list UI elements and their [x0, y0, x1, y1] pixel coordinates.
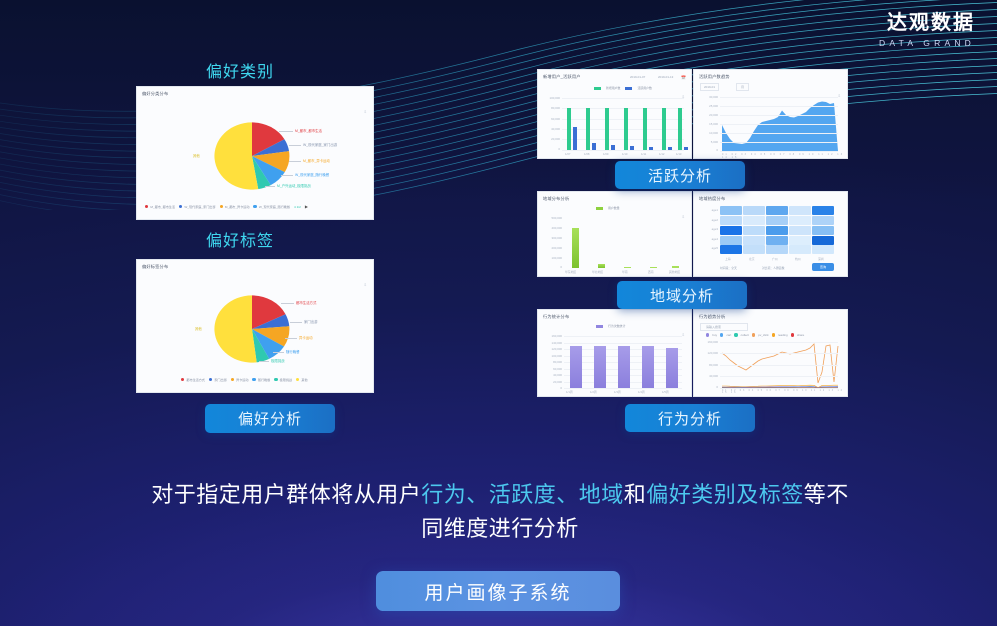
- legend-label: 用户数量: [608, 206, 620, 210]
- brand-name-en: DATA GRAND: [879, 38, 975, 48]
- gridline: [720, 124, 838, 125]
- plot-area: 100,000 80,000 60,000 40,000 20,000 0: [562, 98, 688, 150]
- y-tick: 300,000: [540, 236, 562, 240]
- x-axis-labels: 01 02 03 04 05 06 07 08 09 10 11 12 13 1…: [722, 153, 847, 159]
- legend-label: 家门出游: [214, 377, 226, 382]
- pie-leader-line: [290, 322, 302, 323]
- heatmap-cell[interactable]: [812, 226, 834, 235]
- x-tick: 其他地区: [669, 270, 680, 274]
- bar: [570, 346, 582, 388]
- y-tick: 40,000: [540, 373, 562, 377]
- heatmap-cell[interactable]: [720, 245, 742, 254]
- gridline: [720, 151, 838, 152]
- heatmap-cell[interactable]: [766, 245, 788, 254]
- panel-title: 偏好标签分布: [137, 260, 373, 270]
- legend-label: W_现代家庭_家门出游: [184, 204, 215, 209]
- heatmap-cell[interactable]: [789, 236, 811, 245]
- panel-region-heatmap: 地域热度分布 age1 age2 age3 age4 age5: [693, 191, 848, 277]
- pie-label: 极限挑战: [271, 358, 285, 363]
- panel-behavior-line: 行为趋势分析 请输入搜索 buy cart collect pv_click r…: [693, 309, 848, 397]
- legend-item[interactable]: 都市生活方式: [181, 377, 205, 382]
- bar: [650, 267, 657, 268]
- heatmap-cell[interactable]: [812, 236, 834, 245]
- y-tick: 160,000: [696, 340, 718, 344]
- panel-title: 地域热度分布: [694, 192, 847, 202]
- y-tick: 100,000: [539, 96, 560, 100]
- legend-item[interactable]: 家门出游: [209, 377, 227, 382]
- gridline: [720, 115, 838, 116]
- calendar-icon[interactable]: 📅: [681, 75, 686, 80]
- pie-label: 其他: [195, 326, 202, 331]
- date-range-filter-2[interactable]: 2019-01-13: [658, 75, 673, 79]
- y-tick: 500,000: [540, 216, 562, 220]
- y-tick: 200,000: [540, 246, 562, 250]
- legend-color-dot: [706, 333, 709, 336]
- pie-leader-line: [281, 303, 294, 304]
- legend-label: reading: [778, 333, 788, 337]
- gridline: [720, 106, 838, 107]
- description-paragraph: 对于指定用户群体将从用户行为、活跃度、地域和偏好类别及标签等不同维度进行分析: [150, 478, 850, 546]
- pie-legend[interactable]: M_都市_都市生活 W_现代家庭_家门出游 M_都市_异卡运动 W_现代家庭_随…: [145, 204, 308, 209]
- legend-label: W_现代家庭_随行晚餐: [259, 204, 290, 209]
- heatmap-col-label: 上海: [725, 257, 731, 261]
- period-select[interactable]: 2019-01: [700, 83, 719, 91]
- pie-leader-line: [289, 161, 301, 162]
- y-tick: 120,000: [696, 351, 718, 355]
- gridline: [564, 388, 682, 389]
- pie-leader-line: [285, 338, 297, 339]
- pie-leader-line: [279, 131, 293, 132]
- y-tick: 80,000: [540, 360, 562, 364]
- x-tick: 1/2周: [590, 390, 597, 394]
- brand-name-cn: 达观数据: [879, 12, 975, 35]
- button-region-analysis[interactable]: 地域分析: [617, 281, 747, 309]
- legend-color-dot: [253, 205, 256, 208]
- legend-label: 随行晚餐: [258, 377, 270, 382]
- pie-leader-line: [273, 352, 284, 353]
- gridline: [720, 353, 838, 354]
- bar: [678, 108, 682, 150]
- plot-area: 500,000 400,000 300,000 200,000 100,000 …: [564, 218, 686, 268]
- heatmap-cell[interactable]: [720, 226, 742, 235]
- x-tick: 1/08: [584, 152, 589, 156]
- legend-item[interactable]: M_都市_异卡运动: [220, 204, 250, 209]
- y-tick: 25,000: [696, 104, 718, 108]
- legend-color-dot: [181, 378, 184, 381]
- panel-active-bar: 新增用户_活跃用户 2019-01-07 2019-01-13 📅 新增用户数 …: [537, 69, 692, 159]
- y-tick: 40,000: [696, 374, 718, 378]
- bar: [668, 147, 672, 150]
- para-highlight-2: 偏好类别及标签: [646, 482, 804, 507]
- pie-label: 都市生活方式: [296, 300, 316, 305]
- legend-label: 都市生活方式: [186, 377, 205, 382]
- legend-color-dot: [772, 333, 775, 336]
- legend-color-dot: [145, 205, 148, 208]
- bar: [567, 108, 571, 150]
- legend-color-dot: [296, 378, 299, 381]
- y-tick: 120,000: [540, 347, 562, 351]
- bar: [605, 108, 609, 150]
- heatmap-col-label: 深圳: [818, 257, 824, 261]
- x-tick: 1/4周: [638, 390, 645, 394]
- brand-logo: 达观数据 DATA GRAND: [879, 12, 975, 48]
- panel-behavior-bar: 行为统计分布 行为次数统计 ⇩ 160,000 140,000 120,000 …: [537, 309, 692, 397]
- bar: [573, 127, 577, 150]
- x-tick: 1/13: [676, 152, 681, 156]
- x-tick: 华北地区: [592, 270, 603, 274]
- heatmap-cell[interactable]: [743, 216, 765, 225]
- x-tick: 西南: [648, 270, 654, 274]
- y-tick: 20,000: [696, 113, 718, 117]
- gridline: [720, 142, 838, 143]
- heatmap-cell[interactable]: [789, 216, 811, 225]
- legend-color-dot: [179, 205, 182, 208]
- caption-pref-tag: 偏好标签: [206, 227, 274, 251]
- legend-item[interactable]: W_现代家庭_家门出游: [179, 204, 216, 209]
- legend-color-dot: [791, 333, 794, 336]
- heatmap-cell[interactable]: [812, 216, 834, 225]
- y-tick: 5,000: [696, 140, 718, 144]
- bar: [624, 267, 631, 268]
- chart-legend[interactable]: 新增用户数 活跃用户数: [594, 86, 652, 90]
- heatmap-col-label: 广州: [772, 257, 778, 261]
- gridline: [562, 98, 684, 99]
- heatmap-row-label: age1: [698, 208, 718, 212]
- legend-item[interactable]: 随行晚餐: [252, 377, 270, 382]
- y-tick: 20,000: [540, 380, 562, 384]
- y-tick: 400,000: [540, 226, 562, 230]
- heatmap-col-label: 北京: [749, 257, 755, 261]
- legend-label: 极限挑战: [280, 377, 292, 382]
- heatmap-cell[interactable]: [766, 226, 788, 235]
- y-tick: 160,000: [540, 334, 562, 338]
- bar: [630, 146, 634, 150]
- chart-legend[interactable]: buy cart collect pv_click reading share: [706, 333, 804, 337]
- button-behavior-analysis[interactable]: 行为分析: [625, 404, 755, 432]
- pie-label: 异卡运动: [299, 335, 313, 340]
- legend-color-chip: [594, 87, 601, 90]
- y-tick: 100,000: [540, 256, 562, 260]
- legend-color-dot: [752, 333, 755, 336]
- heatmap-row-label: age2: [698, 218, 718, 222]
- pie-leader-line: [281, 175, 293, 176]
- chart-legend[interactable]: 行为次数统计: [596, 324, 625, 328]
- legend-color-dot: [274, 378, 277, 381]
- legend-color-chip: [625, 87, 632, 90]
- next-page-icon[interactable]: ▶: [305, 204, 308, 209]
- heatmap-cell[interactable]: [766, 206, 788, 215]
- gridline: [562, 150, 684, 151]
- bar: [572, 228, 579, 268]
- filter-label: 时间段：全天: [720, 266, 737, 270]
- y-tick: 15,000: [696, 122, 718, 126]
- gridline: [720, 365, 838, 366]
- pie-label: M_户外运动_极限挑战: [277, 183, 311, 188]
- metric-select[interactable]: 月: [736, 83, 749, 91]
- panel-region-bar: 地域分布分析 用户数量 ⇩ 500,000 400,000 300,000 20…: [537, 191, 692, 277]
- legend-item[interactable]: 异卡运动: [231, 377, 249, 382]
- legend-pager[interactable]: 4 1/2: [294, 205, 301, 209]
- legend-label: 行为次数统计: [608, 324, 625, 328]
- bar: [624, 108, 628, 150]
- panel-active-area: 活跃用户数趋势 2019-01 月 ⇩ 30,000 25,000 20,000…: [693, 69, 848, 159]
- caption-pref-category: 偏好类别: [206, 58, 274, 82]
- button-pref-analysis[interactable]: 偏好分析: [205, 404, 335, 433]
- button-main-system[interactable]: 用户画像子系统: [376, 571, 620, 611]
- y-tick: 0: [696, 148, 718, 152]
- download-icon[interactable]: ⇩: [364, 282, 367, 287]
- y-tick: 60,000: [540, 367, 562, 371]
- bar: [594, 346, 606, 388]
- x-axis-labels: 01 02 03 04 05 06 07 08 09 10 11 12 13 1…: [722, 390, 847, 394]
- legend-label: collect: [741, 333, 749, 337]
- pie-leader-line: [259, 361, 269, 362]
- pie-label: 其他: [193, 153, 200, 158]
- bar: [611, 145, 615, 150]
- y-tick: 0: [540, 265, 562, 269]
- bar: [642, 346, 654, 388]
- gridline: [564, 343, 682, 344]
- heatmap-row-label: age4: [698, 237, 718, 241]
- x-tick: 1/09: [603, 152, 608, 156]
- legend-color-dot: [209, 378, 212, 381]
- y-tick: 0: [696, 385, 718, 389]
- bar: [649, 147, 653, 150]
- legend-color-dot: [220, 205, 223, 208]
- bar: [662, 108, 666, 150]
- para-highlight-1: 行为、活跃度、地域: [421, 482, 624, 507]
- filter-label-2: 对比项：人群画像: [762, 266, 784, 270]
- heatmap-cell[interactable]: [812, 245, 834, 254]
- line-pv-click: [722, 344, 838, 383]
- y-tick: 0: [539, 147, 560, 151]
- heatmap-cell[interactable]: [743, 245, 765, 254]
- legend-item[interactable]: W_现代家庭_随行晚餐: [253, 204, 290, 209]
- panel-title: 行为统计分布: [538, 310, 691, 320]
- bar: [672, 266, 679, 268]
- x-tick: 1/07: [565, 152, 570, 156]
- panel-title: 偏好分类分布: [137, 87, 373, 97]
- plot-area: 160,000 120,000 80,000 40,000 0: [720, 342, 842, 388]
- gridline: [564, 336, 682, 337]
- x-tick: 1/11: [641, 152, 646, 156]
- heatmap-grid[interactable]: age1 age2 age3 age4 age5: [720, 206, 838, 254]
- legend-color-chip: [596, 325, 603, 328]
- chart-legend[interactable]: 用户数量: [596, 206, 620, 210]
- y-tick: 10,000: [696, 131, 718, 135]
- legend-item[interactable]: 其他: [296, 377, 308, 382]
- panel-title: 地域分布分析: [538, 192, 691, 202]
- heatmap-cell[interactable]: [766, 236, 788, 245]
- heatmap-row-label: age5: [698, 246, 718, 250]
- heatmap-cell[interactable]: [720, 216, 742, 225]
- x-tick: 华南: [622, 270, 628, 274]
- download-icon[interactable]: ⇩: [364, 109, 367, 114]
- bar: [684, 147, 688, 150]
- legend-color-chip: [596, 207, 603, 210]
- legend-label: M_都市_异卡运动: [225, 204, 250, 209]
- date-range-filter[interactable]: 2019-01-07: [630, 75, 645, 79]
- x-tick: 1/1周: [566, 390, 573, 394]
- legend-label: 其他: [301, 377, 307, 382]
- heatmap-cell[interactable]: [789, 226, 811, 235]
- heatmap-row-label: age3: [698, 227, 718, 231]
- legend-label: M_都市_都市生活: [150, 204, 175, 209]
- panel-pref-category-pie: 偏好分类分布 ⇩ M_都市_都市生活 W_现代家庭_家门出游 M_都市_异卡运动…: [136, 86, 374, 220]
- search-input[interactable]: 请输入搜索: [700, 323, 748, 331]
- heatmap-cell[interactable]: [789, 206, 811, 215]
- legend-label: share: [797, 333, 804, 337]
- heatmap-cell[interactable]: [812, 206, 834, 215]
- heatmap-cell[interactable]: [743, 236, 765, 245]
- gridline: [720, 388, 838, 389]
- x-tick: 1/10: [622, 152, 627, 156]
- y-tick: 80,000: [696, 363, 718, 367]
- para-part-1: 对于指定用户群体将从用户: [151, 482, 421, 507]
- gridline: [720, 342, 838, 343]
- legend-color-dot: [231, 378, 234, 381]
- y-tick: 140,000: [540, 341, 562, 345]
- x-tick: 华东地区: [565, 270, 576, 274]
- heatmap-cell[interactable]: [743, 206, 765, 215]
- plot-area: 30,000 25,000 20,000 15,000 10,000 5,000…: [720, 97, 842, 151]
- y-tick: 20,000: [539, 137, 560, 141]
- bar: [618, 346, 630, 388]
- gridline: [720, 376, 838, 377]
- legend-label: buy: [712, 333, 717, 337]
- pie-label: 随行晚餐: [286, 349, 300, 354]
- gridline: [720, 133, 838, 134]
- legend-item[interactable]: 极限挑战: [274, 377, 292, 382]
- legend-label: cart: [726, 333, 731, 337]
- y-tick: 80,000: [539, 106, 560, 110]
- heatmap-cell[interactable]: [789, 245, 811, 254]
- y-tick: 0: [540, 386, 562, 390]
- bar: [592, 143, 596, 150]
- panel-title: 行为趋势分析: [694, 310, 847, 320]
- bar: [586, 108, 590, 150]
- legend-item[interactable]: M_都市_都市生活: [145, 204, 175, 209]
- legend-color-dot: [252, 378, 255, 381]
- panel-title: 活跃用户数趋势: [694, 70, 847, 80]
- legend-label: 异卡运动: [236, 377, 248, 382]
- pie-label: M_都市_都市生活: [295, 128, 322, 133]
- pie-chart: [213, 294, 291, 364]
- pie-legend[interactable]: 都市生活方式 家门出游 异卡运动 随行晚餐 极限挑战 其他: [181, 377, 308, 382]
- plot-area: 160,000 140,000 120,000 100,000 80,000 6…: [564, 336, 686, 388]
- button-active-analysis[interactable]: 活跃分析: [615, 161, 745, 189]
- y-tick: 60,000: [539, 117, 560, 121]
- heatmap-col-label: 杭州: [795, 257, 801, 261]
- legend-color-dot: [734, 333, 737, 336]
- x-tick: 1/5周: [662, 390, 669, 394]
- heatmap-cell[interactable]: [720, 236, 742, 245]
- para-part-2: 和: [624, 482, 647, 507]
- pie-label: W_现代家庭_随行晚餐: [295, 172, 329, 177]
- pie-label: 家门出游: [304, 319, 318, 324]
- y-tick: 100,000: [540, 354, 562, 358]
- bar: [666, 348, 678, 388]
- legend-label: 新增用户数: [606, 86, 620, 90]
- x-tick: 1/3周: [614, 390, 621, 394]
- y-tick: 30,000: [696, 95, 718, 99]
- pie-label: W_现代家庭_家门出游: [303, 142, 337, 147]
- query-button[interactable]: 查询: [812, 263, 834, 271]
- heatmap-cell[interactable]: [766, 216, 788, 225]
- y-tick: 40,000: [539, 127, 560, 131]
- pie-leader-line: [265, 186, 275, 187]
- x-tick: 1/12: [659, 152, 664, 156]
- gridline: [720, 97, 838, 98]
- legend-label: pv_click: [758, 333, 768, 337]
- heatmap-cell[interactable]: [743, 226, 765, 235]
- bar: [643, 108, 647, 150]
- legend-label: 活跃用户数: [637, 86, 651, 90]
- heatmap-cell[interactable]: [720, 206, 742, 215]
- pie-label: M_都市_异卡运动: [303, 158, 330, 163]
- pie-leader-line: [289, 145, 301, 146]
- legend-color-dot: [720, 333, 723, 336]
- bar: [598, 264, 605, 268]
- panel-pref-tag-pie: 偏好标签分布 ⇩ 都市生活方式 家门出游 异卡运动 随行晚餐 极限挑战 其他 都…: [136, 259, 374, 393]
